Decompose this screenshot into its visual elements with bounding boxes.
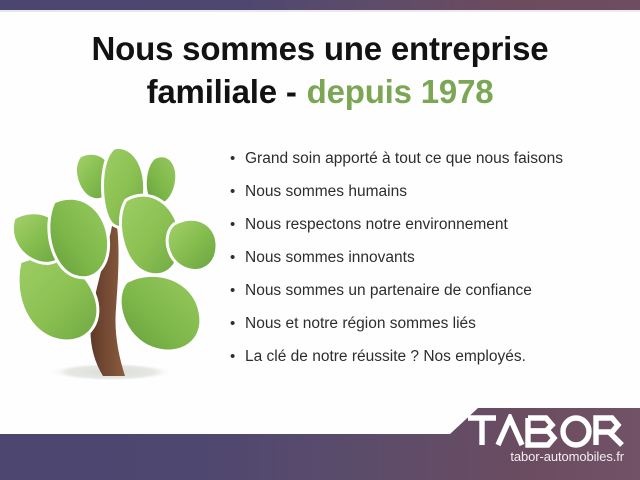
- list-item: • Nous respectons notre environnement: [230, 214, 630, 247]
- list-item: • Grand soin apporté à tout ce que nous …: [230, 148, 630, 181]
- tree-leaf-right-outer: [167, 219, 217, 270]
- bullet-dot-icon: •: [230, 247, 245, 269]
- list-item: • La clé de notre réussite ? Nos employé…: [230, 346, 630, 379]
- tree-leaf-right-lower: [120, 275, 201, 351]
- footer-bar-shape: [0, 408, 640, 480]
- list-item-label: Nous sommes humains: [245, 181, 407, 203]
- page-title: Nous sommes une entreprise familiale -de…: [40, 28, 600, 113]
- bullet-dot-icon: •: [230, 181, 245, 203]
- list-item-label: Nous et notre région sommes liés: [245, 313, 476, 335]
- headline-line-1: Nous sommes une entreprise: [92, 30, 549, 67]
- list-item-label: Grand soin apporté à tout ce que nous fa…: [245, 148, 563, 170]
- footer-bar: [0, 404, 640, 480]
- list-item: • Nous et notre région sommes liés: [230, 313, 630, 346]
- list-item-label: Nous sommes innovants: [245, 247, 415, 269]
- list-item-label: Nous respectons notre environnement: [245, 214, 508, 236]
- list-item: • Nous sommes humains: [230, 181, 630, 214]
- top-accent-hairline: [0, 10, 640, 12]
- list-item: • Nous sommes un partenaire de confiance: [230, 280, 630, 313]
- list-item-label: La clé de notre réussite ? Nos employés.: [245, 346, 526, 368]
- headline-line-2-main: familiale -: [147, 73, 297, 110]
- bullet-dot-icon: •: [230, 346, 245, 368]
- bullet-dot-icon: •: [230, 148, 245, 170]
- value-bullet-list: • Grand soin apporté à tout ce que nous …: [230, 148, 630, 379]
- headline-line-2-accent: depuis 1978: [307, 73, 494, 110]
- bullet-dot-icon: •: [230, 313, 245, 335]
- slide-canvas: Nous sommes une entreprise familiale -de…: [0, 0, 640, 480]
- list-item-label: Nous sommes un partenaire de confiance: [245, 280, 532, 302]
- list-item: • Nous sommes innovants: [230, 247, 630, 280]
- bullet-dot-icon: •: [230, 214, 245, 236]
- tree-illustration: [8, 140, 218, 390]
- top-accent-bar: [0, 0, 640, 10]
- bullet-dot-icon: •: [230, 280, 245, 302]
